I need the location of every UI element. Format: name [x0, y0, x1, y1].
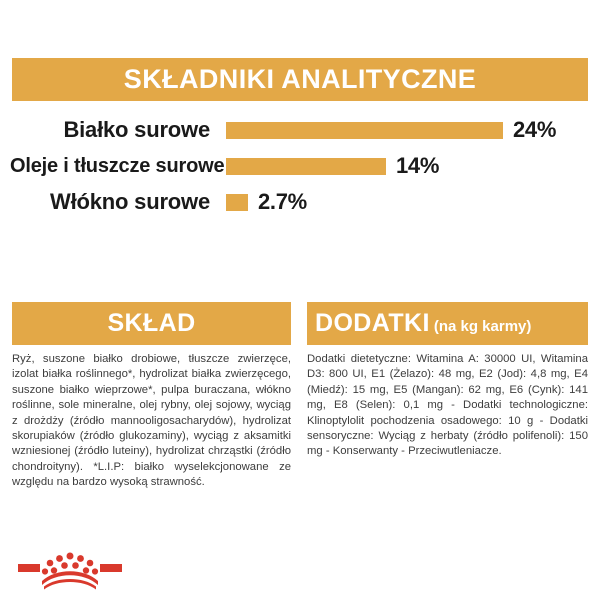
- bar-fill-crude-fibre: [226, 194, 248, 211]
- analytical-constituents-heading: SKŁADNIKI ANALITYCZNE: [124, 66, 476, 93]
- bar-row: Włókno surowe 2.7%: [0, 184, 600, 220]
- additives-banner: DODATKI (na kg karmy): [307, 302, 588, 345]
- additives-heading-group: DODATKI (na kg karmy): [315, 311, 531, 336]
- bar-row: Oleje i tłuszcze surowe 14%: [0, 148, 600, 184]
- analytical-constituents-banner: SKŁADNIKI ANALITYCZNE: [12, 58, 588, 101]
- composition-banner: SKŁAD: [12, 302, 291, 345]
- bar-value-crude-fats: 14%: [396, 155, 439, 177]
- royal-canin-crown-logo: [18, 551, 122, 593]
- bar-track: 2.7%: [226, 184, 590, 220]
- bar-label-crude-protein: Białko surowe: [10, 119, 210, 141]
- page-root: SKŁADNIKI ANALITYCZNE Białko surowe 24% …: [0, 0, 600, 600]
- composition-text: Ryż, suszone białko drobiowe, tłuszcze z…: [12, 352, 291, 491]
- bar-fill-crude-fats: [226, 158, 386, 175]
- bar-value-crude-protein: 24%: [513, 119, 556, 141]
- additives-text: Dodatki dietetyczne: Witamina A: 30000 U…: [307, 352, 588, 460]
- composition-heading: SKŁAD: [107, 311, 195, 336]
- bar-row: Białko surowe 24%: [0, 112, 600, 148]
- bar-track: 14%: [226, 148, 590, 184]
- bar-label-crude-fats: Oleje i tłuszcze surowe: [10, 156, 210, 176]
- bar-fill-crude-protein: [226, 122, 503, 139]
- analytical-bar-chart: Białko surowe 24% Oleje i tłuszcze surow…: [0, 112, 600, 220]
- additives-subheading: (na kg karmy): [434, 319, 532, 334]
- bar-label-crude-fibre: Włókno surowe: [10, 191, 210, 213]
- additives-heading: DODATKI: [315, 311, 430, 336]
- bar-value-crude-fibre: 2.7%: [258, 191, 307, 213]
- bar-track: 24%: [226, 112, 590, 148]
